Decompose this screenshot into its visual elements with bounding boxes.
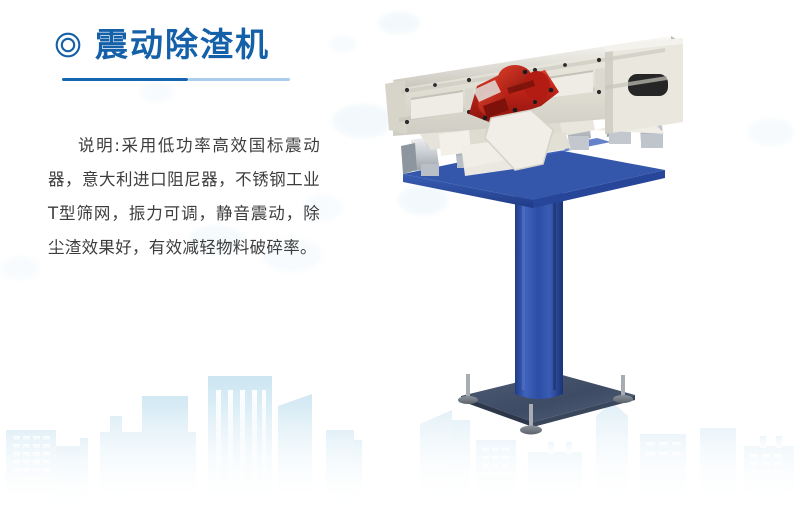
product-description: 说明:采用低功率高效国标震动器，意大利进口阻尼器，不锈钢工业T型筛网，振力可调，… [48, 129, 320, 265]
leveling-foot [613, 375, 633, 403]
decorative-blob [330, 36, 356, 52]
product-image-vibrating-slag-removal-machine [365, 18, 795, 438]
product-detail-page: 震动除渣机 说明:采用低功率高效国标震动器，意大利进口阻尼器，不锈钢工业T型筛网… [0, 0, 800, 512]
page-header: 震动除渣机 [55, 28, 290, 81]
decorative-blob [0, 256, 40, 280]
title-underline-dark [62, 78, 188, 81]
ring-icon [55, 32, 81, 58]
page-title: 震动除渣机 [95, 28, 270, 61]
leveling-foot [458, 374, 478, 404]
title-underline [62, 78, 290, 81]
title-underline-light [188, 78, 290, 81]
decorative-blob [140, 82, 174, 102]
